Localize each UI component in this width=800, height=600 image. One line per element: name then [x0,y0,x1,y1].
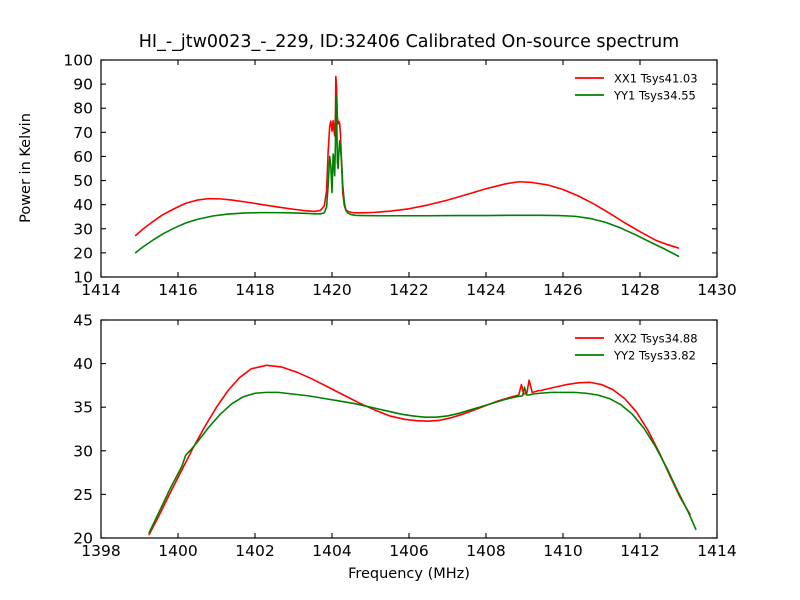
x-tick-label-bottom: 1402 [235,542,274,560]
legend-label-xx2: XX2 Tsys34.88 [614,332,698,346]
y-tick-label-bottom: 45 [73,312,93,330]
x-tick-label-top: 1418 [235,281,274,299]
x-tick-label-bottom: 1412 [620,542,659,560]
x-tick-label-bottom: 1410 [543,542,582,560]
y-tick-label-bottom: 20 [73,530,93,548]
x-axis-label-bottom: Frequency (MHz) [348,566,470,582]
x-tick-label-top: 1422 [389,281,428,299]
y-tick-label-top: 60 [73,148,93,166]
y-tick-label-top: 90 [73,76,93,94]
plot-canvas: HI_-_jtw0023_-_229, ID:32406 Calibrated … [0,0,800,600]
legend-label-yy1: YY1 Tsys34.55 [613,89,696,103]
y-tick-label-bottom: 35 [73,399,93,417]
x-tick-label-top: 1426 [543,281,582,299]
spectrum-figure: HI_-_jtw0023_-_229, ID:32406 Calibrated … [0,0,800,600]
x-tick-label-bottom: 1400 [158,542,197,560]
legend-label-yy2: YY2 Tsys33.82 [613,349,696,363]
page-title: HI_-_jtw0023_-_229, ID:32406 Calibrated … [139,32,679,52]
y-tick-label-top: 50 [73,172,93,190]
y-tick-label-top: 20 [73,244,93,262]
x-tick-label-bottom: 1408 [466,542,505,560]
x-tick-label-top: 1420 [312,281,351,299]
legend-label-xx1: XX1 Tsys41.03 [614,72,698,86]
y-tick-label-top: 80 [73,100,93,118]
x-tick-label-bottom: 1406 [389,542,428,560]
x-tick-label-bottom: 1414 [697,542,736,560]
y-tick-label-bottom: 40 [73,355,93,373]
y-tick-label-top: 70 [73,124,93,142]
x-tick-label-bottom: 1404 [312,542,351,560]
y-tick-label-top: 40 [73,196,93,214]
x-tick-label-top: 1416 [158,281,197,299]
y-axis-label-top: Power in Kelvin [18,113,34,223]
x-tick-label-top: 1424 [466,281,505,299]
x-tick-label-top: 1430 [697,281,736,299]
y-tick-label-bottom: 30 [73,442,93,460]
y-tick-label-top: 10 [73,269,93,287]
x-tick-label-top: 1428 [620,281,659,299]
y-tick-label-top: 30 [73,220,93,238]
y-tick-label-bottom: 25 [73,486,93,504]
y-tick-label-top: 100 [63,52,93,70]
